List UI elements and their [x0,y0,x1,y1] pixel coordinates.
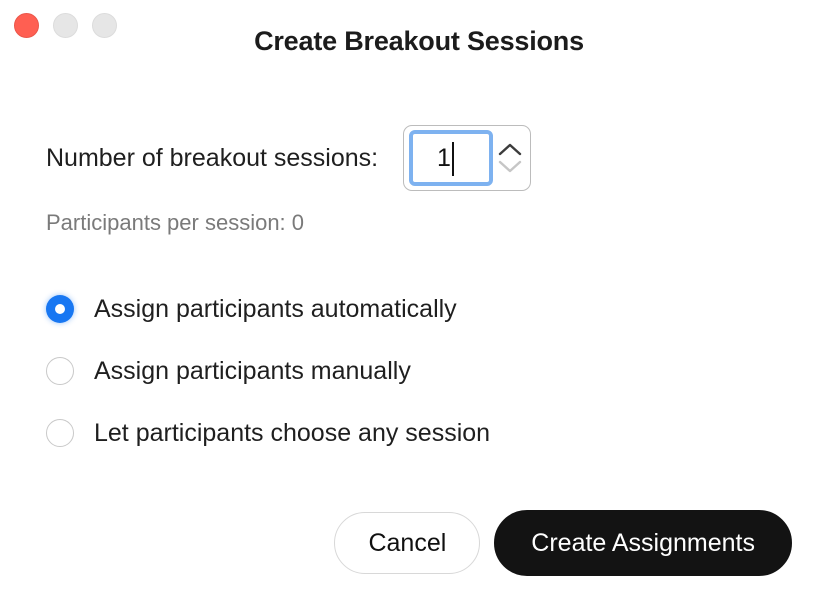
dialog-footer: Cancel Create Assignments [46,510,792,576]
session-count-row: Number of breakout sessions: [46,122,792,194]
cancel-button[interactable]: Cancel [334,512,480,574]
create-assignments-button[interactable]: Create Assignments [494,510,792,576]
assignment-mode-group: Assign participants automatically Assign… [46,278,792,464]
dialog-body: Number of breakout sessions: [0,122,838,576]
option-label: Assign participants automatically [94,295,457,324]
page-title: Create Breakout Sessions [0,26,838,57]
text-caret [452,142,454,176]
session-count-input[interactable] [413,134,489,182]
title-bar: Create Breakout Sessions [0,0,838,86]
radio-icon-unselected[interactable] [46,419,74,447]
participants-per-session-text: Participants per session: 0 [46,210,792,236]
option-assign-automatically[interactable]: Assign participants automatically [46,278,792,340]
chevron-down-icon[interactable] [498,160,522,174]
stepper-arrows [496,130,524,186]
session-count-label: Number of breakout sessions: [46,144,378,173]
option-participants-choose[interactable]: Let participants choose any session [46,402,792,464]
radio-icon-selected[interactable] [46,295,74,323]
option-label: Assign participants manually [94,357,411,386]
session-count-stepper[interactable] [403,125,531,191]
option-label: Let participants choose any session [94,419,490,448]
session-count-input-wrapper[interactable] [409,130,493,186]
option-assign-manually[interactable]: Assign participants manually [46,340,792,402]
dialog-window: Create Breakout Sessions Number of break… [0,0,838,602]
radio-icon-unselected[interactable] [46,357,74,385]
chevron-up-icon[interactable] [498,142,522,156]
